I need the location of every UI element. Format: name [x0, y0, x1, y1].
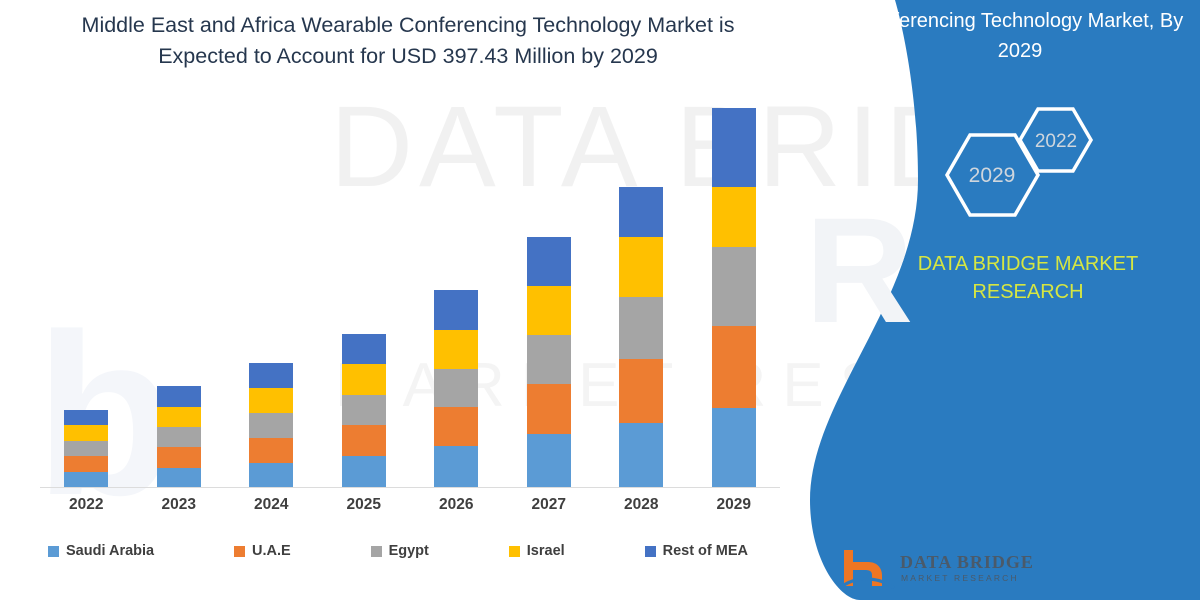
- infographic-canvas: b DATA BRIDGE MARKET RESEARCH Middle Eas…: [0, 0, 1200, 600]
- x-axis-tick: 2028: [595, 490, 687, 520]
- legend-item[interactable]: U.A.E: [234, 543, 291, 559]
- brand-panel-heading: Conferencing Technology Market, By 2029: [855, 6, 1185, 66]
- bar-column: [688, 100, 780, 487]
- brand-name: DATA BRIDGE MARKET RESEARCH: [878, 250, 1178, 306]
- bar-segment: [619, 237, 663, 297]
- company-logo: DATA BRIDGE MARKET RESEARCH: [838, 548, 1068, 596]
- bar-segment: [619, 359, 663, 423]
- legend-swatch-icon: [48, 546, 59, 557]
- bar-column: [318, 100, 410, 487]
- bar-segment: [434, 446, 478, 487]
- legend-item[interactable]: Egypt: [371, 543, 429, 559]
- x-axis-tick: 2025: [318, 490, 410, 520]
- bar-segment: [527, 384, 571, 434]
- legend-swatch-icon: [509, 546, 520, 557]
- stacked-bar: [249, 363, 293, 487]
- brand-name-line1: DATA BRIDGE MARKET: [878, 250, 1178, 278]
- bar-segment: [712, 108, 756, 187]
- x-axis-tick: 2027: [503, 490, 595, 520]
- bar-segment: [619, 423, 663, 487]
- legend-item[interactable]: Israel: [509, 543, 565, 559]
- bar-segment: [712, 408, 756, 487]
- x-axis-tick: 2026: [410, 490, 502, 520]
- legend-item[interactable]: Rest of MEA: [645, 543, 748, 559]
- bar-segment: [434, 330, 478, 369]
- bar-segment: [157, 468, 201, 487]
- bar-group: [40, 100, 780, 487]
- stacked-bar: [157, 386, 201, 487]
- legend-label: Saudi Arabia: [66, 543, 154, 559]
- bar-segment: [527, 434, 571, 487]
- plot-area: [40, 100, 780, 488]
- brand-panel: R Conferencing Technology Market, By 202…: [800, 0, 1200, 600]
- bar-segment: [249, 438, 293, 463]
- bridge-logo-icon: [838, 548, 898, 592]
- bar-segment: [434, 407, 478, 447]
- bar-column: [40, 100, 132, 487]
- bar-segment: [157, 427, 201, 447]
- stacked-bar-chart: 20222023202420252026202720282029: [40, 100, 780, 490]
- bar-segment: [434, 290, 478, 331]
- legend-label: Israel: [527, 543, 565, 559]
- x-axis-tick: 2024: [225, 490, 317, 520]
- bar-segment: [527, 237, 571, 285]
- bar-column: [225, 100, 317, 487]
- brand-panel-content: Conferencing Technology Market, By 2029 …: [800, 0, 1200, 600]
- bar-segment: [64, 441, 108, 456]
- bar-segment: [249, 363, 293, 388]
- bar-segment: [64, 472, 108, 487]
- bar-segment: [434, 369, 478, 407]
- bar-segment: [342, 425, 386, 456]
- legend-swatch-icon: [234, 546, 245, 557]
- stacked-bar: [527, 237, 571, 487]
- bar-column: [503, 100, 595, 487]
- hexagon-group: 2029 2022: [910, 95, 1170, 240]
- bar-column: [595, 100, 687, 487]
- x-axis-tick-labels: 20222023202420252026202720282029: [40, 490, 780, 520]
- logo-tagline: MARKET RESEARCH: [901, 573, 1019, 583]
- bar-segment: [342, 364, 386, 395]
- stacked-bar: [64, 410, 108, 487]
- bar-segment: [342, 334, 386, 364]
- bar-column: [410, 100, 502, 487]
- bar-segment: [712, 247, 756, 326]
- bar-segment: [249, 463, 293, 487]
- bar-segment: [64, 425, 108, 440]
- legend-label: U.A.E: [252, 543, 291, 559]
- bar-segment: [527, 286, 571, 335]
- legend-swatch-icon: [645, 546, 656, 557]
- hexagon-svg: 2029 2022: [910, 95, 1170, 240]
- bar-segment: [64, 410, 108, 425]
- legend-label: Rest of MEA: [663, 543, 748, 559]
- stacked-bar: [712, 108, 756, 487]
- bar-segment: [342, 456, 386, 487]
- bar-segment: [619, 297, 663, 359]
- hexagon-2022-label: 2022: [1035, 131, 1077, 152]
- chart-panel: Middle East and Africa Wearable Conferen…: [0, 0, 880, 600]
- bar-column: [133, 100, 225, 487]
- bar-segment: [249, 413, 293, 437]
- legend-swatch-icon: [371, 546, 382, 557]
- bar-segment: [342, 395, 386, 425]
- bar-segment: [157, 386, 201, 406]
- bar-segment: [157, 447, 201, 467]
- x-axis-tick: 2022: [40, 490, 132, 520]
- bar-segment: [712, 187, 756, 247]
- x-axis-tick: 2023: [133, 490, 225, 520]
- stacked-bar: [434, 290, 478, 487]
- brand-name-line2: RESEARCH: [878, 278, 1178, 306]
- bar-segment: [527, 335, 571, 383]
- bar-segment: [64, 456, 108, 471]
- stacked-bar: [342, 334, 386, 487]
- bar-segment: [619, 187, 663, 237]
- bar-segment: [249, 388, 293, 413]
- legend-item[interactable]: Saudi Arabia: [48, 543, 154, 559]
- legend-label: Egypt: [389, 543, 429, 559]
- stacked-bar: [619, 187, 663, 487]
- x-axis-line: [40, 487, 780, 488]
- chart-legend: Saudi ArabiaU.A.EEgyptIsraelRest of MEA: [48, 538, 748, 564]
- logo-name: DATA BRIDGE: [900, 552, 1034, 573]
- hexagon-2029-label: 2029: [969, 164, 1016, 187]
- bar-segment: [712, 326, 756, 407]
- x-axis-tick: 2029: [688, 490, 780, 520]
- page-title: Middle East and Africa Wearable Conferen…: [48, 10, 768, 72]
- bar-segment: [157, 407, 201, 427]
